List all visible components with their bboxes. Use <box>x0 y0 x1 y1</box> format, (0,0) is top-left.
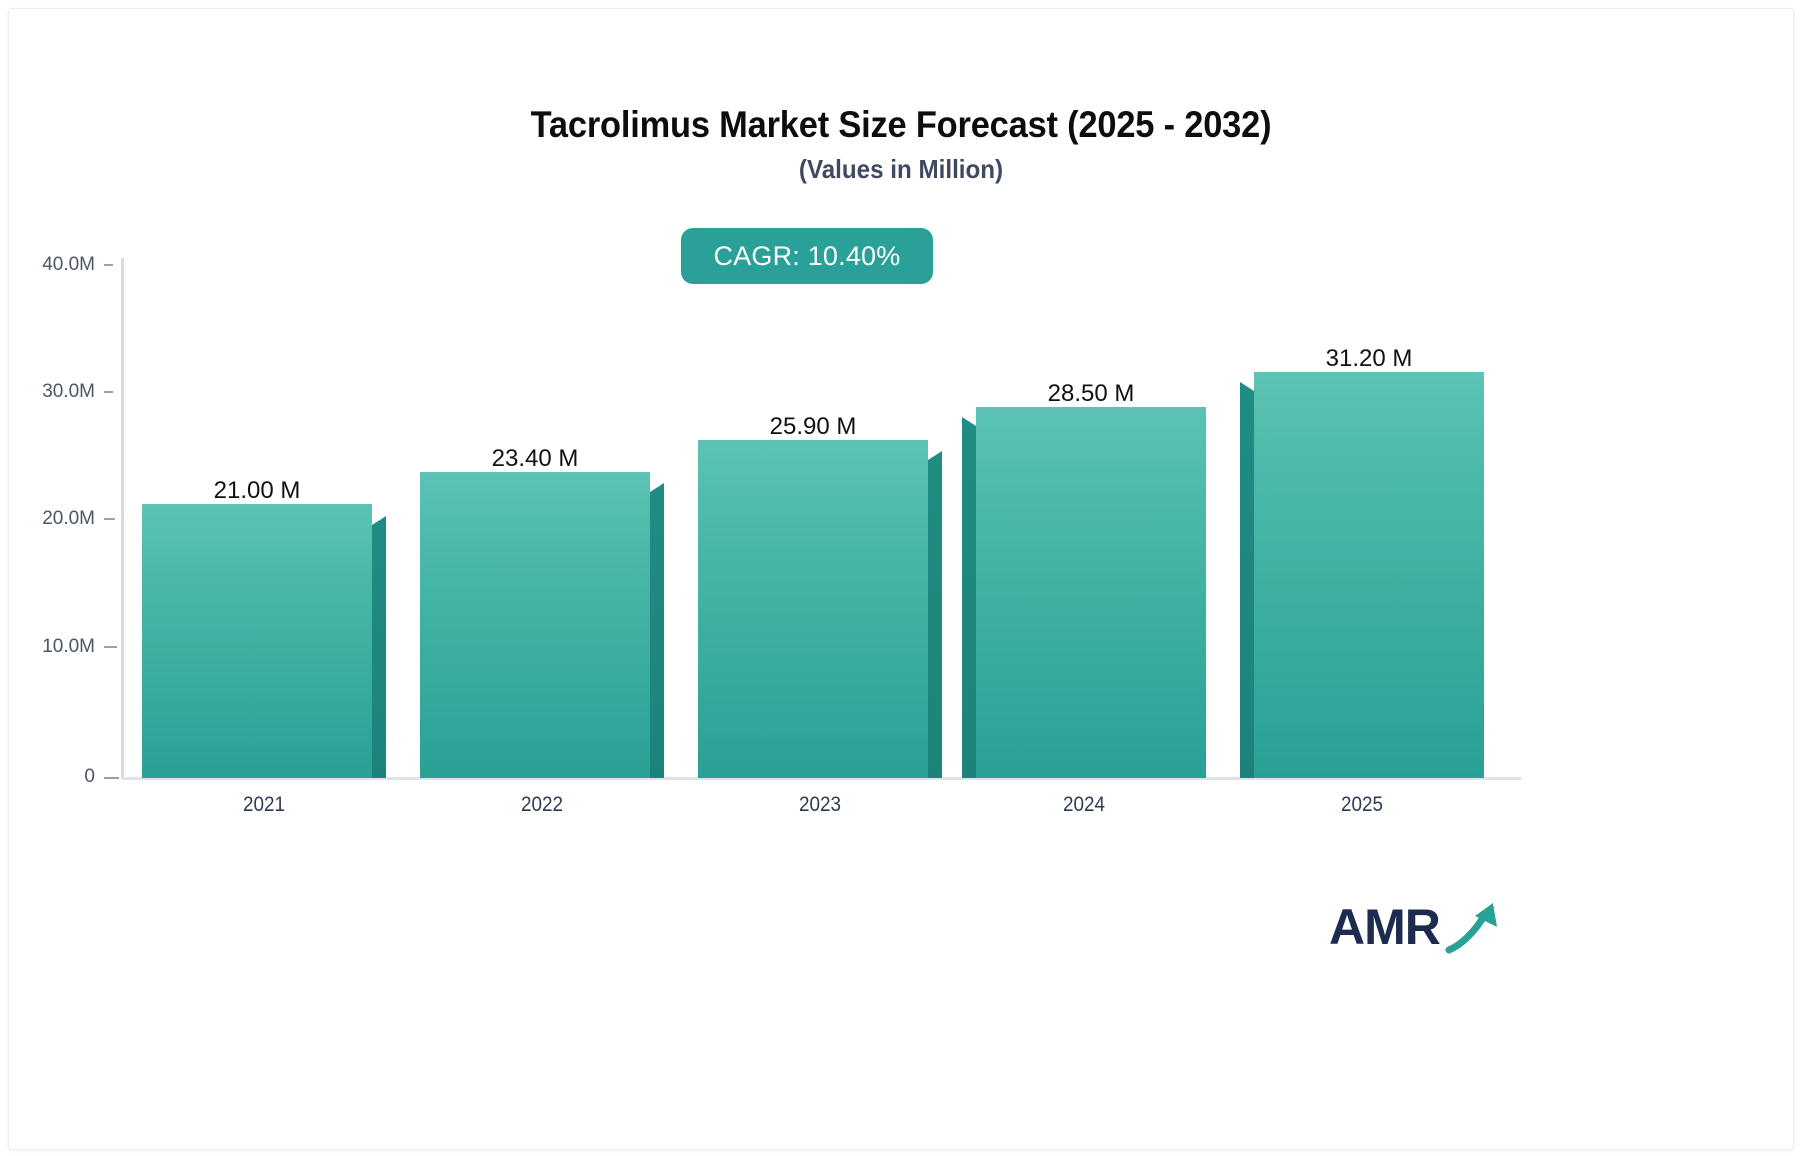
y-tick-dash-40 <box>104 264 113 266</box>
y-axis-line <box>121 258 124 779</box>
bar-side-face <box>1240 382 1254 778</box>
x-tick-label-2025: 2025 <box>1252 793 1472 817</box>
amr-logo-text: AMR <box>1329 897 1440 957</box>
y-tick-label-20: 20.0M <box>9 508 95 530</box>
y-tick-label-0: 0 <box>9 766 95 788</box>
bar-value-label-2024: 28.50 M <box>976 380 1206 408</box>
bar-value-label-2021: 21.00 M <box>142 477 372 505</box>
bar-2025[interactable] <box>1254 372 1484 778</box>
chart-card: Tacrolimus Market Size Forecast (2025 - … <box>8 8 1794 1150</box>
bar-side-face <box>928 451 942 778</box>
x-tick-label-2021: 2021 <box>154 793 374 817</box>
bar-2021[interactable] <box>142 504 372 778</box>
amr-logo: AMR <box>1329 897 1509 961</box>
chart-page: Tacrolimus Market Size Forecast (2025 - … <box>0 0 1800 1156</box>
y-tick-dash-30 <box>104 391 113 393</box>
y-tick-label-10: 10.0M <box>9 636 95 658</box>
bar-side-face <box>372 516 386 778</box>
bar-value-label-2025: 31.20 M <box>1254 345 1484 373</box>
bar-side-face <box>962 417 976 778</box>
growth-arrow-icon <box>1445 901 1503 955</box>
bar-2023[interactable] <box>698 440 928 778</box>
bar-side-face <box>650 483 664 778</box>
bar-value-label-2023: 25.90 M <box>698 413 928 441</box>
x-tick-label-2022: 2022 <box>432 793 652 817</box>
y-tick-label-30: 30.0M <box>9 381 95 403</box>
plot-area: 40.0M 30.0M 20.0M 10.0M 0 21.00 M 23.40 … <box>9 9 1793 1149</box>
y-tick-dash-0 <box>104 777 119 779</box>
bar-2022[interactable] <box>420 472 650 778</box>
y-tick-label-40: 40.0M <box>9 254 95 276</box>
x-tick-label-2023: 2023 <box>710 793 930 817</box>
bar-value-label-2022: 23.40 M <box>420 445 650 473</box>
bar-2024[interactable] <box>976 407 1206 778</box>
x-tick-label-2024: 2024 <box>974 793 1194 817</box>
y-tick-dash-20 <box>104 518 115 520</box>
y-tick-dash-10 <box>104 646 117 648</box>
